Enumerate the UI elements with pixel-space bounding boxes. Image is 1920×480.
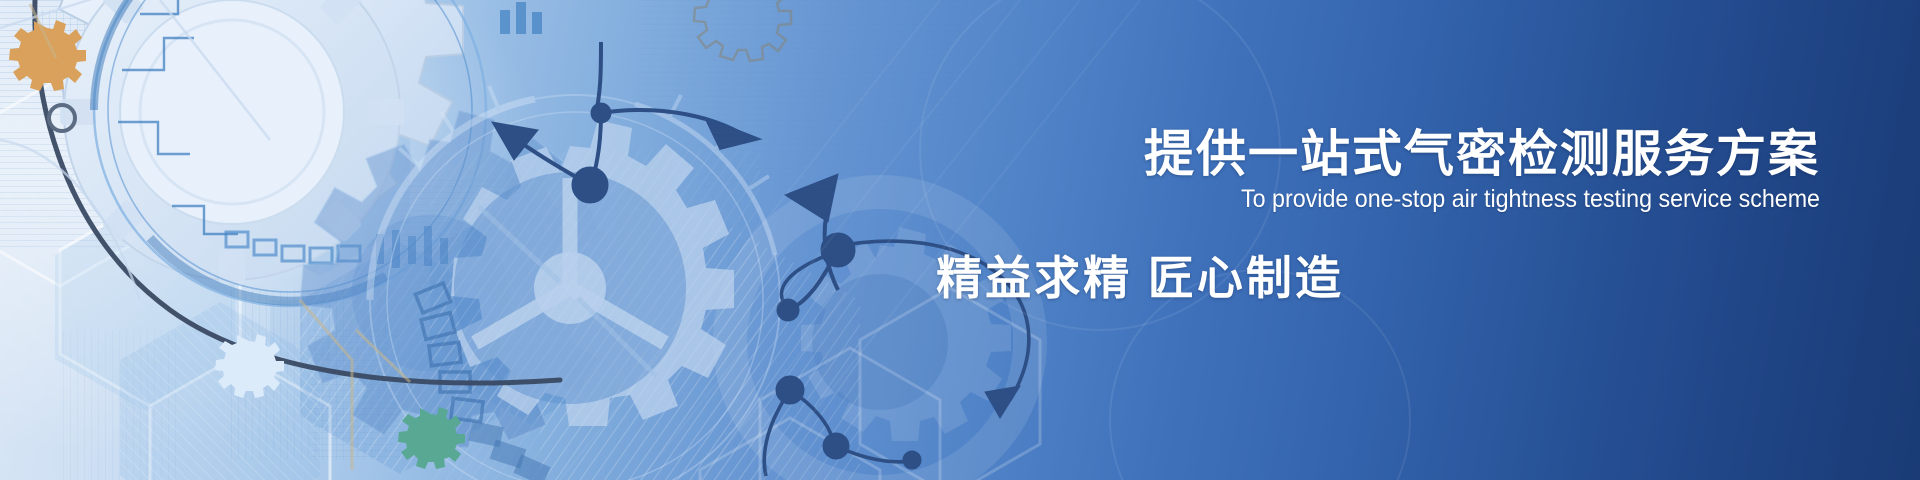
page-title: 提供一站式气密检测服务方案 — [1144, 128, 1820, 181]
background-artwork — [0, 0, 1920, 480]
node-dot — [903, 451, 921, 469]
tagline: 精益求精 匠心制造 — [900, 242, 1380, 308]
hero-banner: 提供一站式气密检测服务方案 To provide one-stop air ti… — [0, 0, 1920, 480]
headline-block: 提供一站式气密检测服务方案 To provide one-stop air ti… — [1144, 128, 1820, 214]
page-subtitle: To provide one-stop air tightness testin… — [1191, 185, 1820, 214]
gear-large-hub — [120, 0, 344, 224]
